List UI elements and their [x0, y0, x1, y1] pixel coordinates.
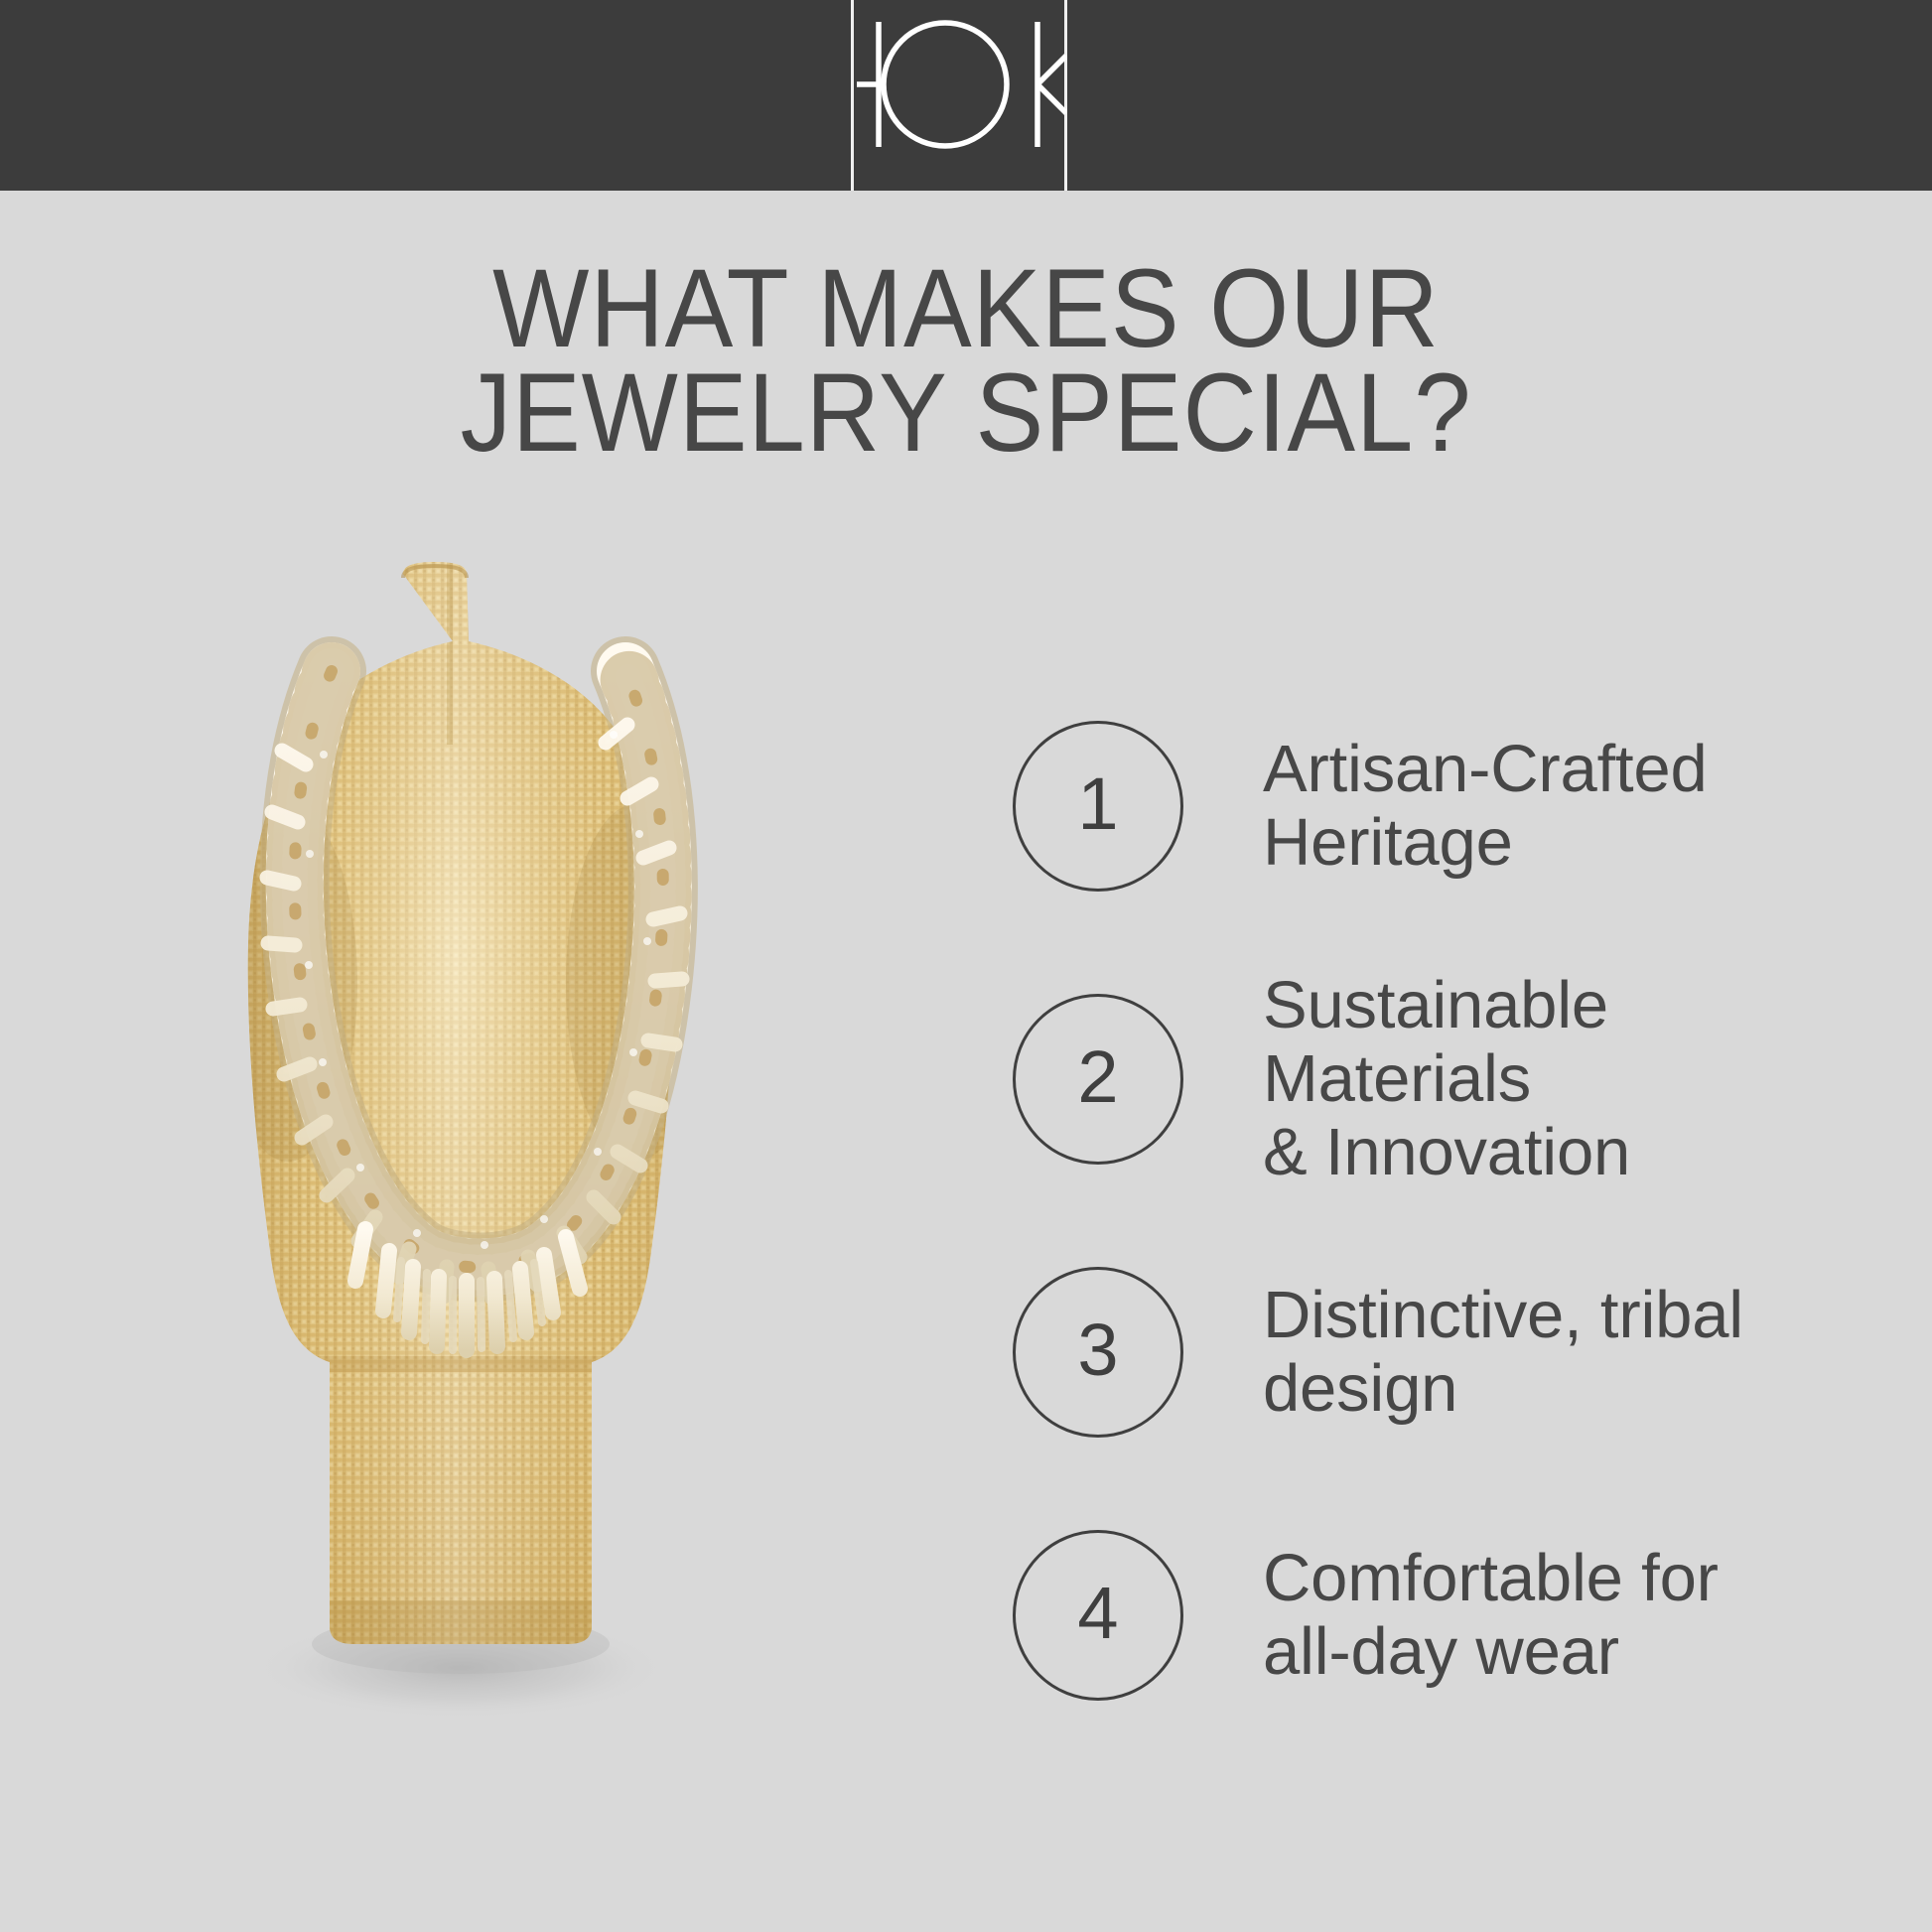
feature-number-badge-3: 3 [1013, 1267, 1183, 1438]
product-image [119, 556, 814, 1747]
feature-number-badge-1: 1 [1013, 721, 1183, 892]
feature-item-2[interactable]: 2 Sustainable Materials & Innovation [1013, 980, 1827, 1178]
feature-label-3: Distinctive, tribal design [1263, 1279, 1743, 1426]
feature-label-1: Artisan-Crafted Heritage [1263, 733, 1708, 880]
page-title: WHAT MAKES OUR JEWELRY SPECIAL? [77, 256, 1855, 465]
feature-number-1: 1 [1077, 767, 1118, 841]
feature-number-badge-4: 4 [1013, 1530, 1183, 1701]
brand-header [0, 0, 1932, 191]
feature-label-4: Comfortable for all-day wear [1263, 1542, 1719, 1689]
logo-lockup[interactable] [851, 0, 1067, 191]
feature-item-3[interactable]: 3 Distinctive, tribal design [1013, 1253, 1827, 1451]
feature-item-1[interactable]: 1 Artisan-Crafted Heritage [1013, 707, 1827, 905]
feature-number-3: 3 [1077, 1313, 1118, 1387]
headline-line-1: WHAT MAKES OUR [77, 256, 1855, 360]
hok-logo-icon [851, 0, 1067, 191]
feature-number-2: 2 [1077, 1040, 1118, 1114]
feature-item-4[interactable]: 4 Comfortable for all-day wear [1013, 1516, 1827, 1715]
feature-label-2: Sustainable Materials & Innovation [1263, 969, 1630, 1189]
feature-number-4: 4 [1077, 1577, 1118, 1650]
infographic-page: WHAT MAKES OUR JEWELRY SPECIAL? [0, 0, 1932, 1932]
necklace-on-bust-illustration [119, 556, 814, 1747]
headline-line-2: JEWELRY SPECIAL? [77, 360, 1855, 465]
feature-number-badge-2: 2 [1013, 994, 1183, 1165]
